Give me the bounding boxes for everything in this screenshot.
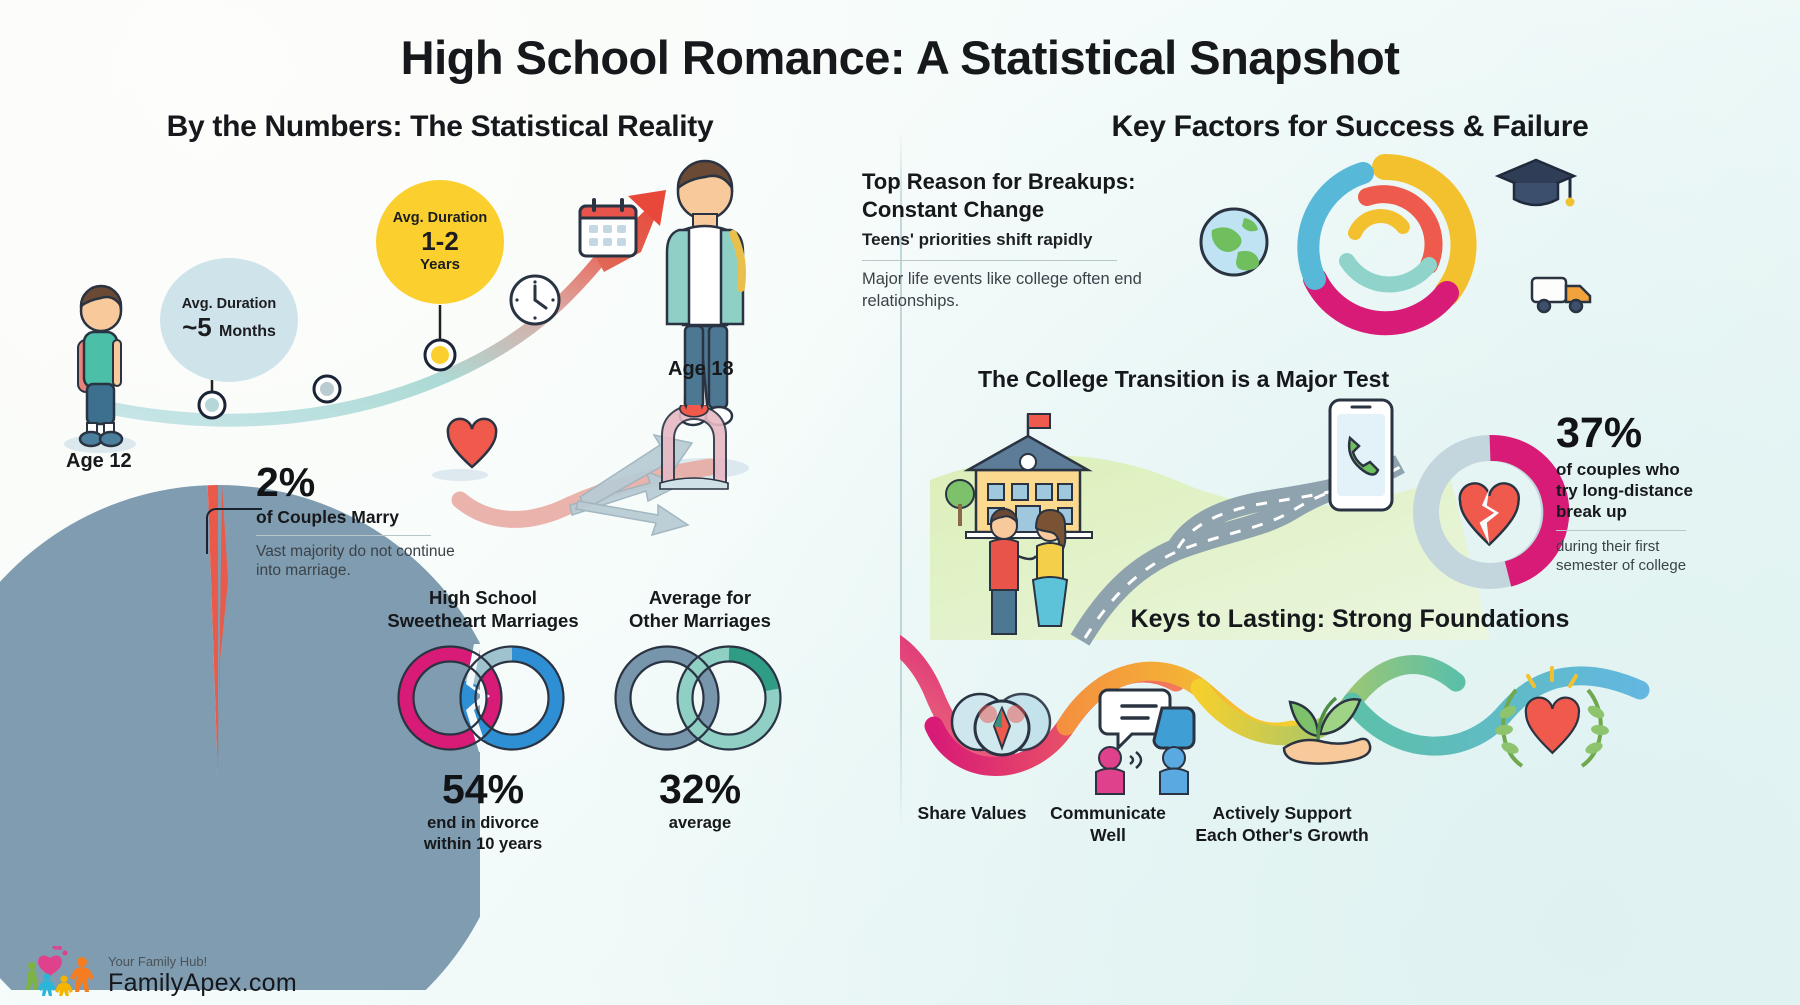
bubble-unit: Years xyxy=(420,256,460,273)
divider-rule xyxy=(256,535,431,536)
callout-leader-line xyxy=(206,508,262,554)
clock-icon xyxy=(511,276,559,324)
bubble-value: 1-2 xyxy=(421,227,459,257)
left-section-title: By the Numbers: The Statistical Reality xyxy=(0,110,880,144)
family-hearts-logo xyxy=(26,946,98,996)
talking-people xyxy=(1096,747,1188,794)
ring-percent: 32% xyxy=(595,769,805,810)
long-distance-stat: 37% of couples who try long-distance bre… xyxy=(1556,412,1796,576)
long-distance-percent: 37% xyxy=(1556,412,1796,455)
linked-rings-icon xyxy=(595,640,805,756)
breakups-block: Top Reason for Breakups: Constant Change… xyxy=(862,168,1152,312)
key-label-communicate-well: Communicate Well xyxy=(1008,803,1208,847)
bubble-label: Avg. Duration xyxy=(393,211,488,227)
brand-tagline: Your Family Hub! xyxy=(108,955,297,968)
long-distance-description: during their first semester of college xyxy=(1556,538,1796,576)
brand-site: FamilyApex.com xyxy=(108,971,297,996)
divider-rule xyxy=(1556,530,1686,531)
bubble-value: ~5 Months xyxy=(182,313,276,343)
globe-icon xyxy=(1201,209,1267,275)
page-title: High School Romance: A Statistical Snaps… xyxy=(0,30,1800,85)
moving-truck-icon xyxy=(1532,278,1590,312)
speech-bubbles-icon xyxy=(1096,690,1194,794)
ring-percent: 54% xyxy=(378,769,588,810)
ring-note: end in divorce within 10 years xyxy=(378,813,588,854)
infographic-canvas: High School Romance: A Statistical Snaps… xyxy=(0,0,1800,1005)
key-label-actively-support: Actively Support Each Other's Growth xyxy=(1182,803,1382,847)
calendar-icon xyxy=(580,200,636,256)
ring-heading: High School Sweetheart Marriages xyxy=(378,586,588,632)
long-distance-caption: of couples who try long-distance break u… xyxy=(1556,459,1796,522)
divider-rule xyxy=(862,260,1117,261)
bubble-label: Avg. Duration xyxy=(182,297,277,313)
boy-student-icon xyxy=(64,286,136,453)
right-section-title: Key Factors for Success & Failure xyxy=(900,110,1800,144)
age-end-label: Age 18 xyxy=(668,358,734,381)
breakups-subheading: Teens' priorities shift rapidly xyxy=(862,230,1152,250)
phone-call-icon xyxy=(1330,400,1392,510)
bubble-avg-duration-years: Avg. Duration 1-2 Years xyxy=(376,180,504,304)
broken-rings-icon xyxy=(378,640,588,756)
breakups-description: Major life events like college often end… xyxy=(862,269,1152,312)
change-swirl-graphic xyxy=(1180,150,1600,350)
graduation-cap-icon xyxy=(1498,160,1575,207)
college-transition-title: The College Transition is a Major Test xyxy=(978,366,1389,393)
branching-paths-graphic xyxy=(420,405,780,590)
breakups-heading: Top Reason for Breakups: Constant Change xyxy=(862,168,1152,224)
heart-icon xyxy=(448,419,496,467)
ring-stat-other-marriages: Average for Other Marriages 32% average xyxy=(595,586,805,834)
brand-logo[interactable]: Your Family Hub! FamilyApex.com xyxy=(26,946,297,996)
ring-heading: Average for Other Marriages xyxy=(595,586,805,632)
keys-ribbon-graphic xyxy=(900,630,1800,820)
brand-text: Your Family Hub! FamilyApex.com xyxy=(108,955,297,996)
compass-icon xyxy=(952,694,1050,755)
bubble-avg-duration-months: Avg. Duration ~5 Months xyxy=(160,258,298,382)
ring-stat-sweethearts: High School Sweetheart Marriages 54% end… xyxy=(378,586,588,855)
ring-note: average xyxy=(595,813,805,834)
